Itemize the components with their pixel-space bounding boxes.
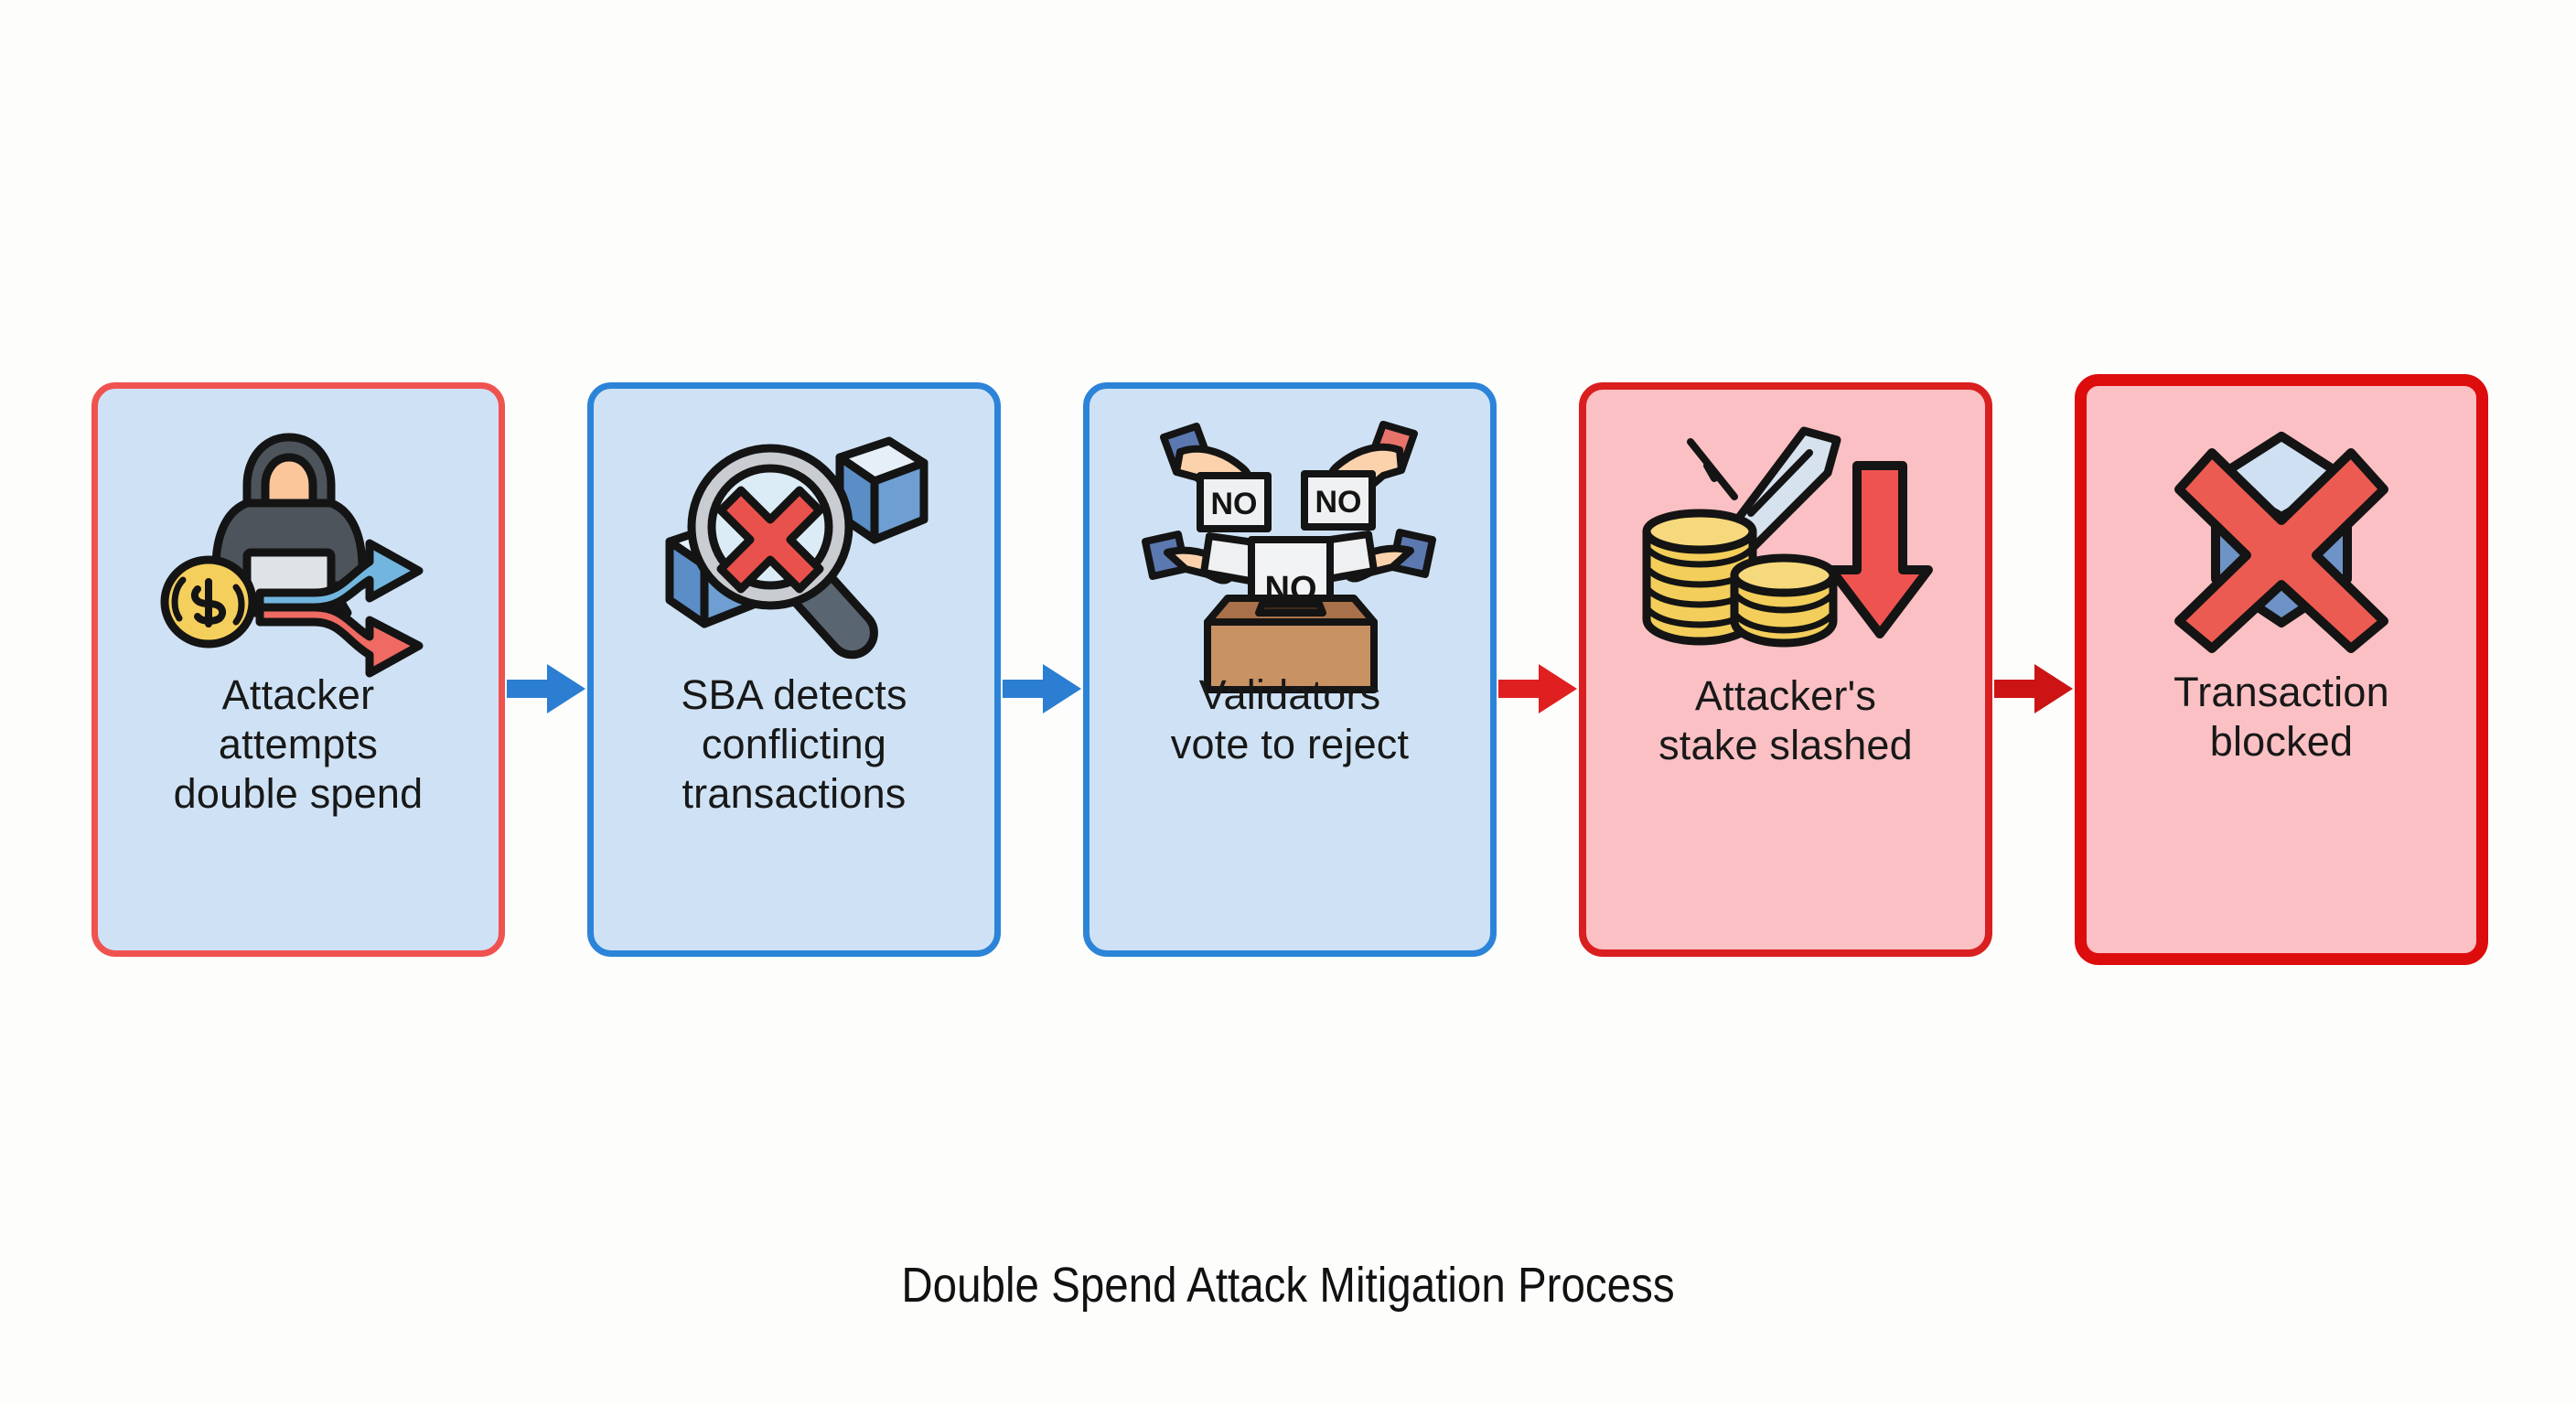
step-card-2[interactable]: SBA detects conflicting transactions bbox=[587, 382, 1001, 957]
step-card-3[interactable]: NO NO bbox=[1083, 382, 1497, 957]
connector-2 bbox=[1001, 382, 1083, 957]
connector-4 bbox=[1992, 382, 2075, 957]
step-card-1[interactable]: Attacker attempts double spend bbox=[91, 382, 505, 957]
arrow-right-icon bbox=[1003, 662, 1081, 715]
svg-text:NO: NO bbox=[1211, 487, 1258, 521]
arrow-right-icon bbox=[507, 662, 585, 715]
step-card-3-label: Validators vote to reject bbox=[1106, 670, 1475, 769]
arrow-right-icon bbox=[1498, 662, 1577, 715]
step-card-5[interactable]: Transaction blocked bbox=[2075, 374, 2488, 965]
hacker-coin-fork-icon bbox=[147, 420, 449, 658]
step-card-2-label: SBA detects conflicting transactions bbox=[610, 670, 979, 819]
magnifier-blocks-x-icon bbox=[643, 420, 945, 658]
diagram-caption: Double Spend Attack Mitigation Process bbox=[155, 1257, 2421, 1314]
step-card-1-label: Attacker attempts double spend bbox=[114, 670, 483, 819]
process-flow: Attacker attempts double spend bbox=[91, 382, 2485, 977]
coins-sword-down-arrow-icon bbox=[1635, 421, 1937, 659]
step-card-4[interactable]: Attacker's stake slashed bbox=[1579, 382, 1992, 957]
diagram-canvas: Attacker attempts double spend bbox=[0, 0, 2576, 1405]
step-card-4-label: Attacker's stake slashed bbox=[1602, 671, 1969, 770]
connector-1 bbox=[505, 382, 587, 957]
arrow-right-icon bbox=[1994, 662, 2073, 715]
ballot-box-no-votes-icon: NO NO bbox=[1139, 420, 1441, 658]
connector-3 bbox=[1497, 382, 1579, 957]
svg-text:NO: NO bbox=[1315, 485, 1362, 520]
step-card-5-label: Transaction blocked bbox=[2102, 668, 2461, 767]
red-x-block-icon bbox=[2131, 417, 2432, 655]
